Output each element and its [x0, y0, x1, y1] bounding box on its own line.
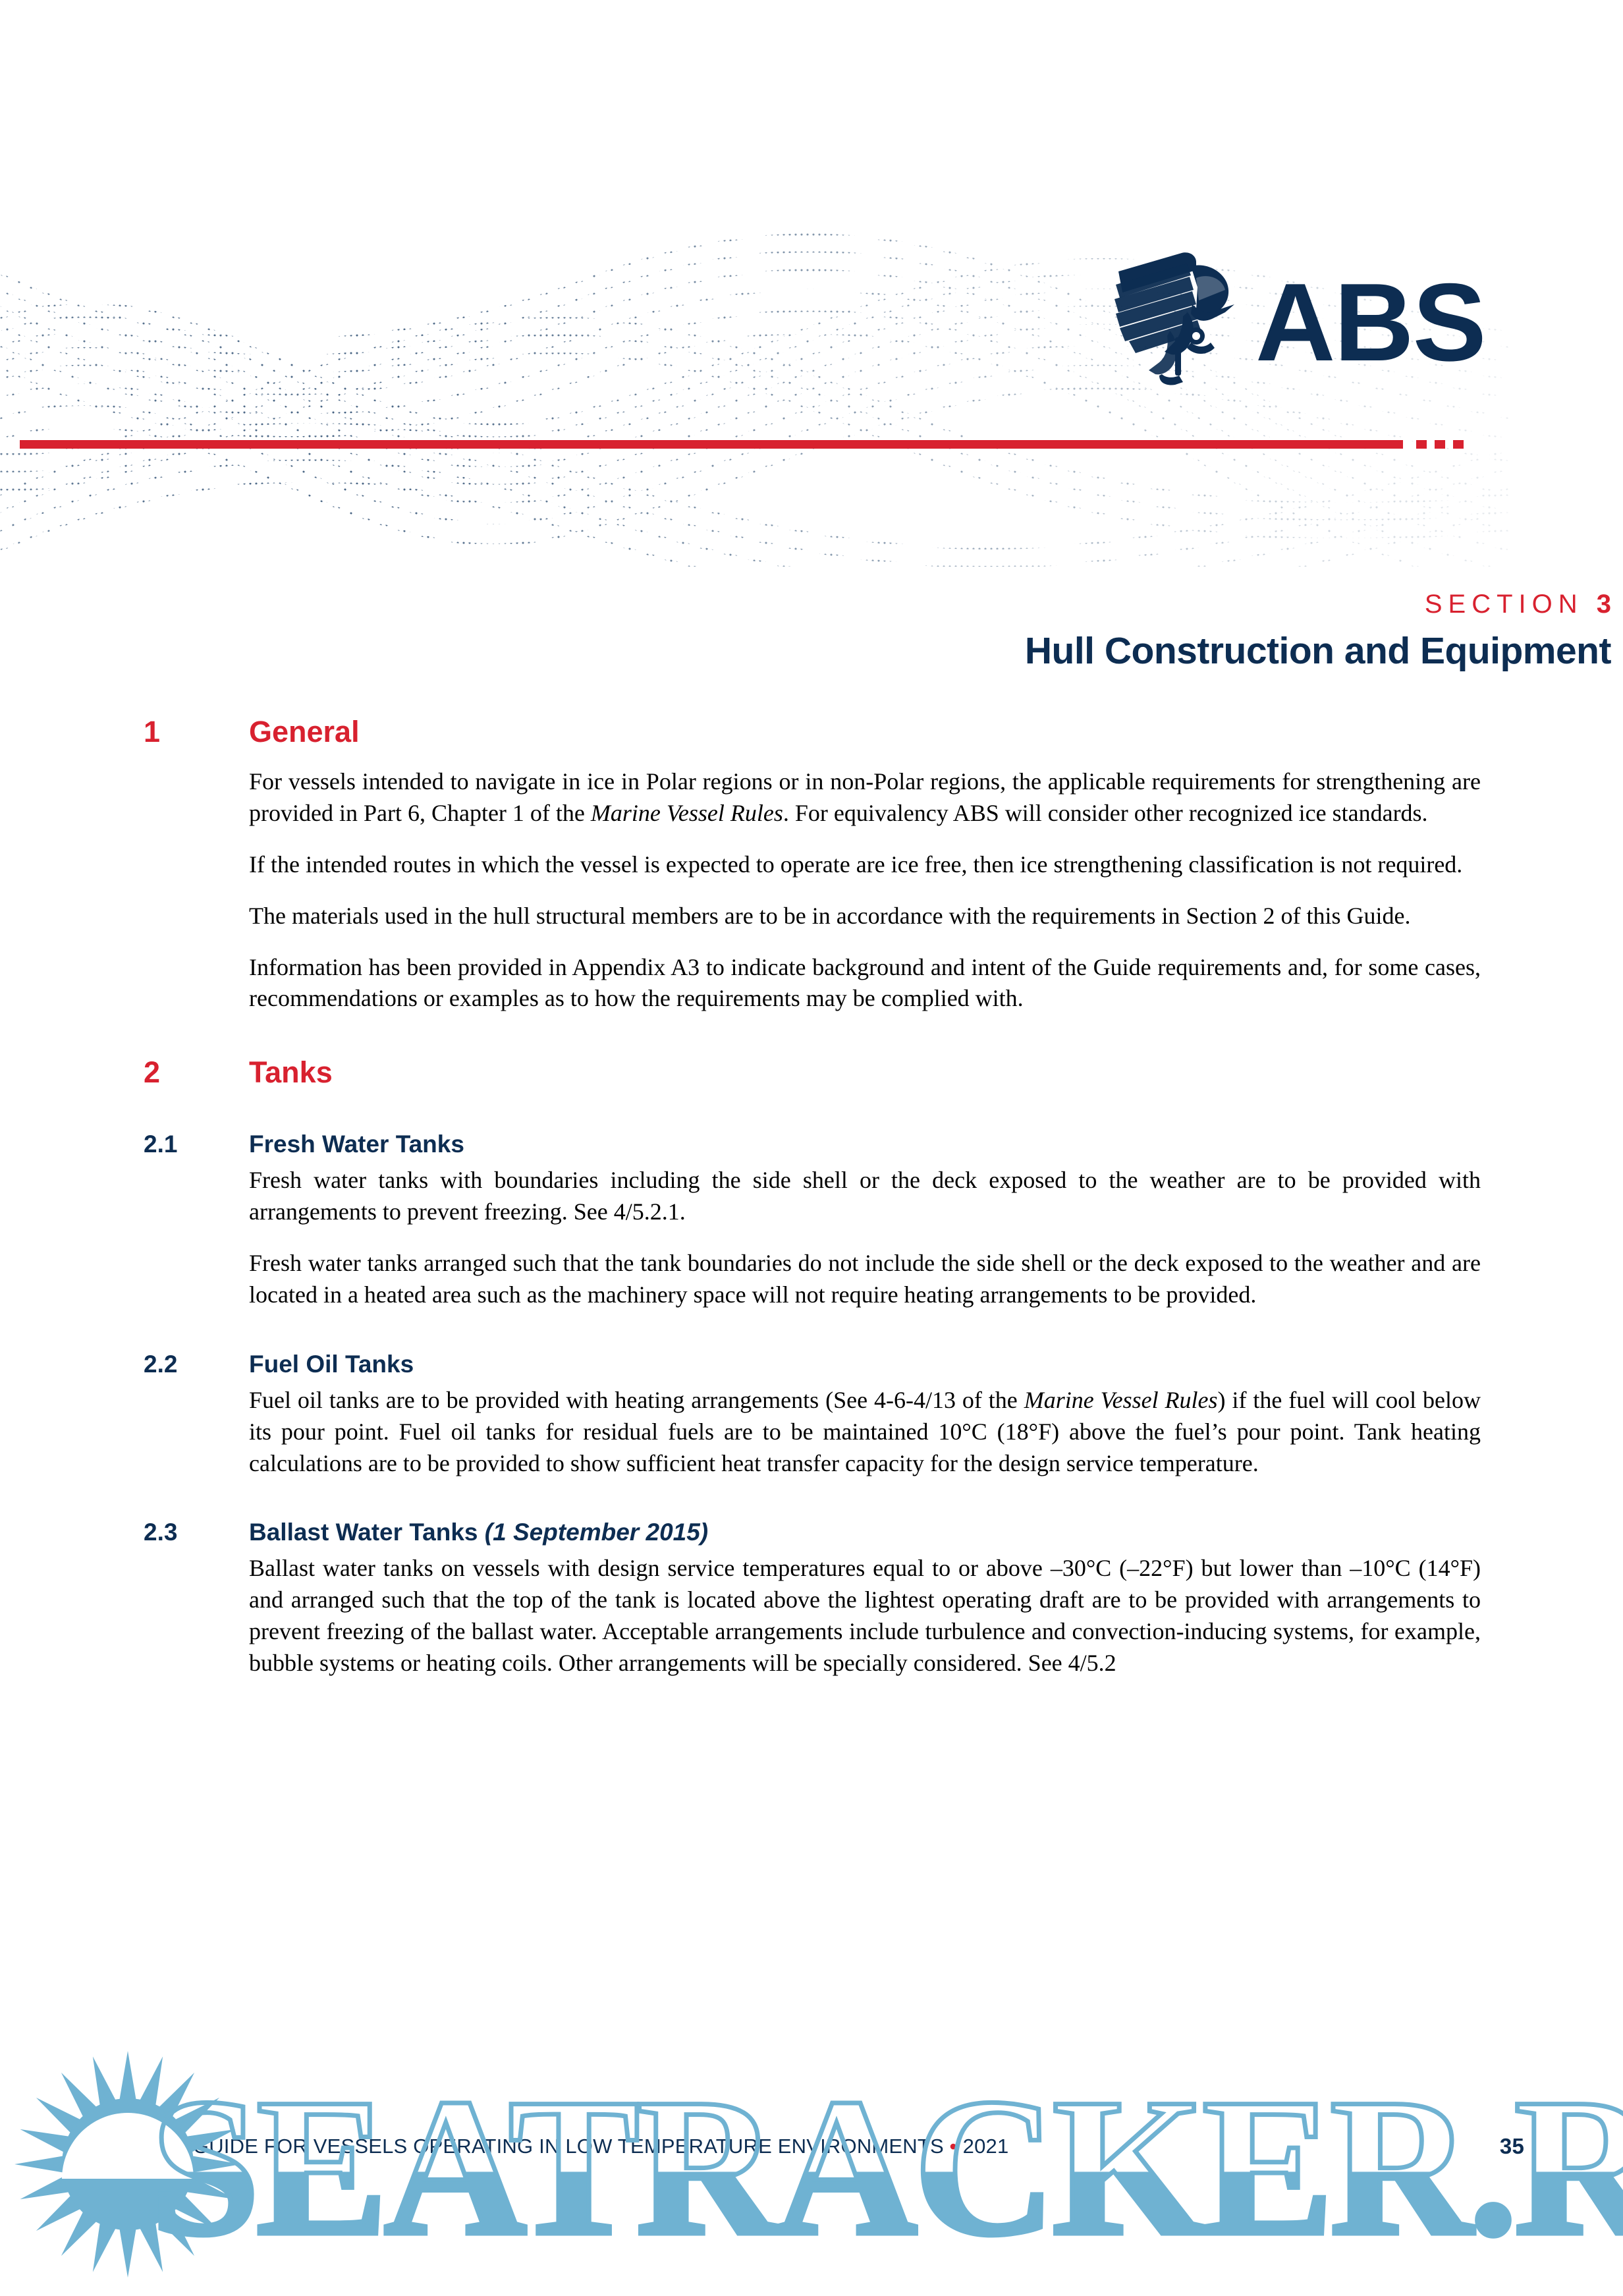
paragraph-italic: Marine Vessel Rules	[1024, 1387, 1218, 1413]
heading-section-1: 1 General	[144, 715, 1481, 749]
heading-subsection-2-3: 2.3 Ballast Water Tanks (1 September 201…	[144, 1519, 1481, 1546]
paragraph: Fuel oil tanks are to be provided with h…	[249, 1385, 1481, 1480]
heading-text: Fuel Oil Tanks	[249, 1351, 414, 1378]
footer-guide-title: GUIDE FOR VESSELS OPERATING IN LOW TEMPE…	[193, 2135, 944, 2158]
heading-label: Fuel Oil Tanks	[249, 1351, 414, 1378]
section-kicker: SECTION 3	[1425, 590, 1611, 619]
footer-publisher: ABS	[144, 2135, 187, 2158]
paragraph-text: If the intended routes in which the vess…	[249, 851, 1462, 878]
footer-year: 2021	[963, 2135, 1009, 2158]
paragraph-text: Fresh water tanks with boundaries includ…	[249, 1167, 1481, 1225]
watermark-sun-icon	[14, 2051, 241, 2278]
section-kicker-label: SECTION	[1425, 590, 1583, 619]
paragraph-text: Information has been provided in Appendi…	[249, 954, 1481, 1012]
paragraph: Ballast water tanks on vessels with desi…	[249, 1553, 1481, 1679]
paragraph-italic: Marine Vessel Rules	[591, 800, 783, 826]
abs-eagle-anchor-icon	[1113, 244, 1252, 385]
footer-separator: •	[950, 2135, 957, 2158]
page-title: Hull Construction and Equipment	[1025, 629, 1611, 673]
paragraph-text: Ballast water tanks on vessels with desi…	[249, 1555, 1481, 1676]
paragraph: If the intended routes in which the vess…	[249, 849, 1481, 881]
footer-title: ABS GUIDE FOR VESSELS OPERATING IN LOW T…	[144, 2135, 1008, 2158]
abs-wordmark: ABS	[1255, 267, 1485, 378]
heading-subsection-2-2: 2.2 Fuel Oil Tanks	[144, 1351, 1481, 1378]
heading-number: 2.1	[144, 1131, 249, 1158]
document-content: 1 General For vessels intended to naviga…	[144, 715, 1481, 1699]
paragraph: The materials used in the hull structura…	[249, 901, 1481, 932]
heading-revision-date: (1 September 2015)	[485, 1519, 708, 1546]
paragraph-text: The materials used in the hull structura…	[249, 903, 1410, 929]
heading-text: Fresh Water Tanks	[249, 1131, 464, 1158]
paragraph: Information has been provided in Appendi…	[249, 952, 1481, 1015]
heading-number: 2	[144, 1055, 249, 1090]
heading-label: Ballast Water Tanks (1 September 2015)	[249, 1519, 708, 1546]
header-rule-dash	[1435, 440, 1445, 449]
watermark-text: SEATRACKER.RU	[150, 2058, 1623, 2276]
page-footer: ABS GUIDE FOR VESSELS OPERATING IN LOW T…	[144, 2131, 1524, 2162]
heading-number: 1	[144, 715, 249, 749]
heading-number: 2.3	[144, 1519, 249, 1546]
paragraph: Fresh water tanks arranged such that the…	[249, 1248, 1481, 1311]
paragraph: Fresh water tanks with boundaries includ…	[249, 1165, 1481, 1228]
abs-logo: ABS	[1113, 244, 1485, 385]
page-number: 35	[1500, 2134, 1524, 2159]
header-rule-dash	[1453, 440, 1464, 449]
heading-text: Ballast Water Tanks	[249, 1519, 478, 1546]
heading-label: General	[249, 715, 360, 749]
heading-number: 2.2	[144, 1351, 249, 1378]
heading-label: Fresh Water Tanks	[249, 1131, 464, 1158]
header-red-rule	[20, 440, 1403, 449]
heading-subsection-2-1: 2.1 Fresh Water Tanks	[144, 1131, 1481, 1158]
section-number: 3	[1597, 590, 1611, 619]
heading-label: Tanks	[249, 1055, 333, 1090]
paragraph-text: Fuel oil tanks are to be provided with h…	[249, 1387, 1024, 1413]
heading-section-2: 2 Tanks	[144, 1055, 1481, 1090]
paragraph: For vessels intended to navigate in ice …	[249, 766, 1481, 829]
paragraph-text: Fresh water tanks arranged such that the…	[249, 1250, 1481, 1308]
header-rule-dash	[1416, 440, 1427, 449]
document-page: ABS SECTION 3 Hull Construction and Equi…	[0, 0, 1623, 2296]
paragraph-text: . For equivalency ABS will consider othe…	[783, 800, 1428, 826]
